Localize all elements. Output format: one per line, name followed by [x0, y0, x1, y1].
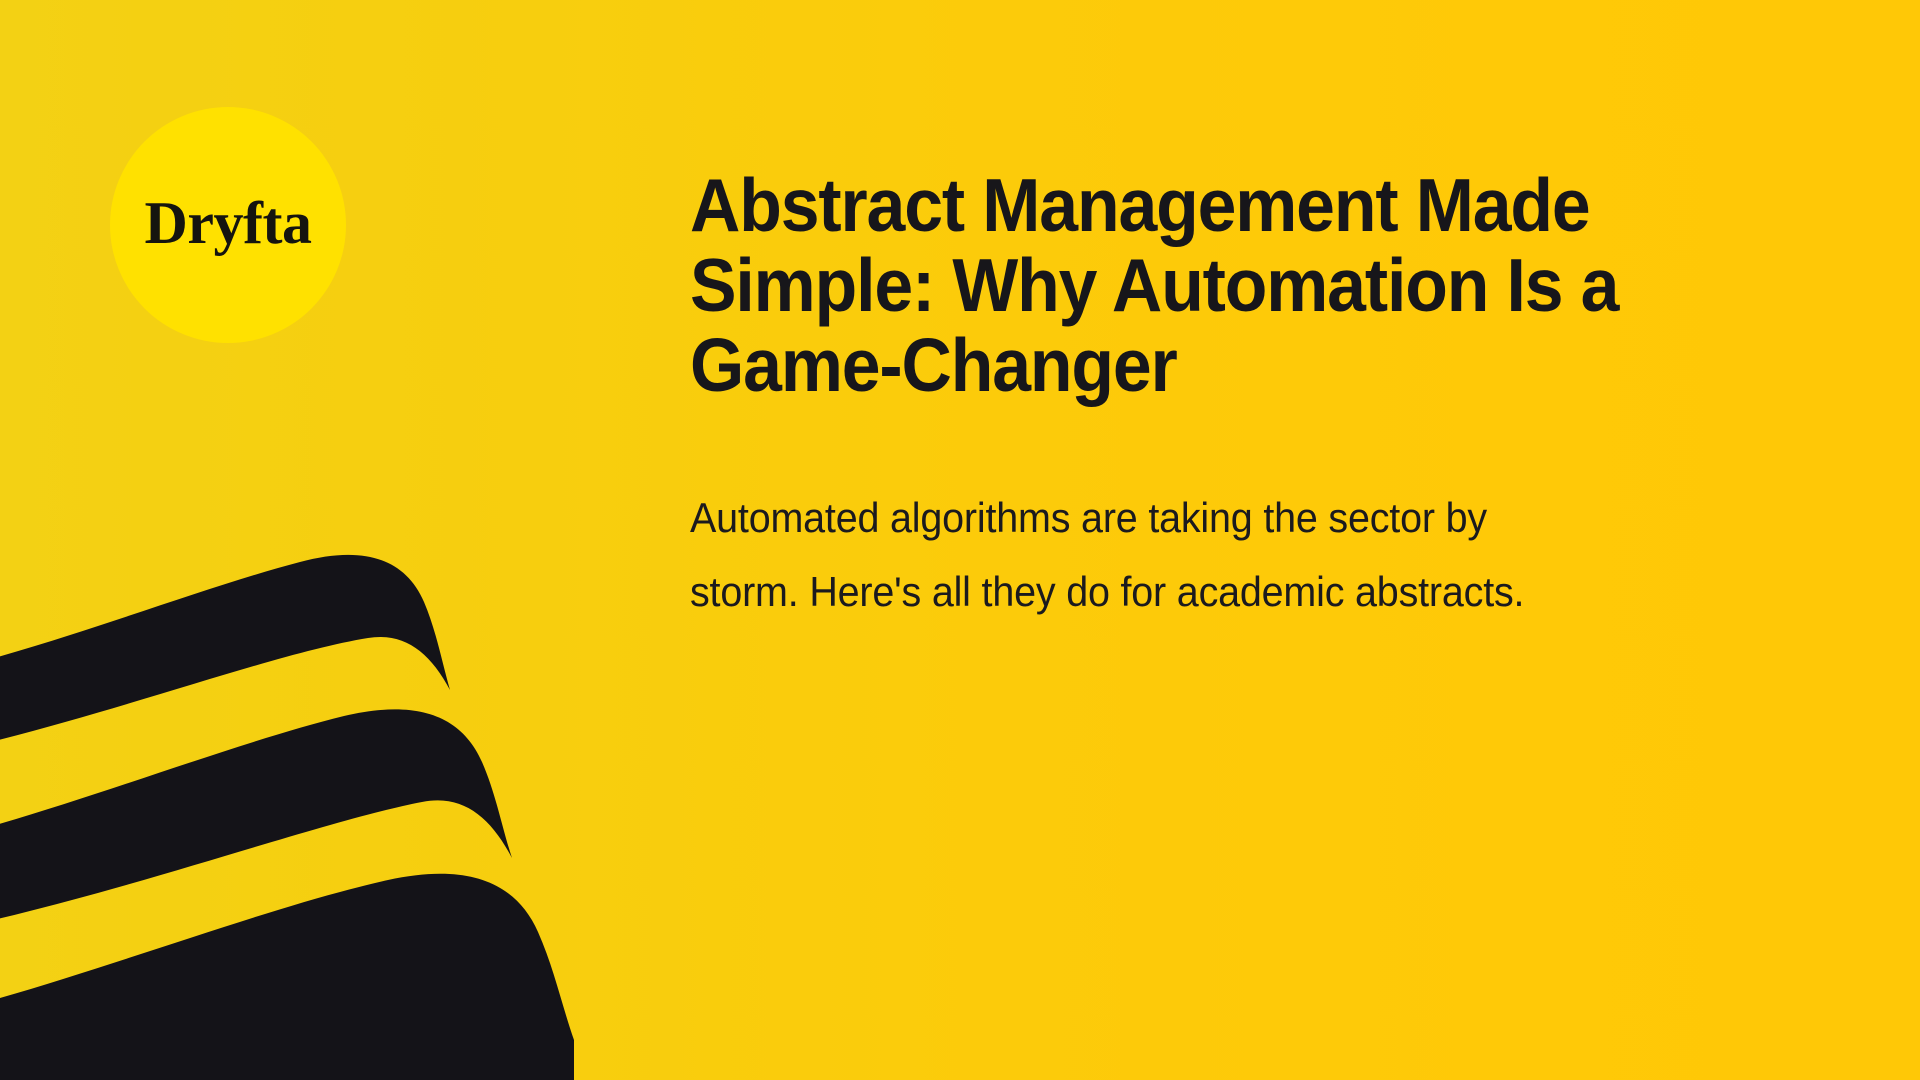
logo-badge[interactable]: Dryfta [110, 107, 346, 343]
page-title: Abstract Management Made Simple: Why Aut… [690, 165, 1704, 405]
stripe-3 [0, 874, 574, 1080]
stripe-2 [0, 709, 512, 932]
text-block: Abstract Management Made Simple: Why Aut… [690, 165, 1780, 629]
logo-wordmark: Dryfta [145, 193, 312, 253]
slide-canvas: Dryfta Abstract Management Made Simple: … [0, 0, 1920, 1080]
curved-stripes-graphic [0, 540, 700, 1080]
stripe-1 [0, 555, 450, 754]
page-subtitle: Automated algorithms are taking the sect… [690, 405, 1715, 629]
